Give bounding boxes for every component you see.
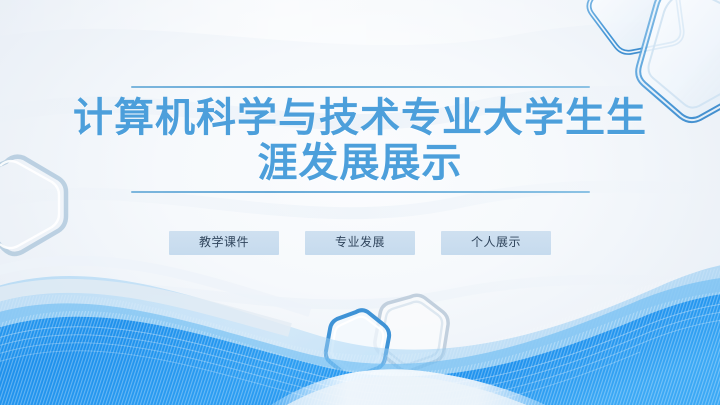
hexagon-top-right-group (0, 0, 720, 405)
hexagon-bottom-center-gray (375, 295, 448, 371)
tag-teaching-courseware[interactable]: 教学课件 (169, 231, 279, 255)
presentation-title-slide: 计算机科学与技术专业大学生生涯发展展示 教学课件 专业发展 个人展示 (0, 0, 720, 405)
title-rule-bottom (131, 191, 590, 193)
title-rule-top (131, 86, 590, 88)
wave-bottom-blue (0, 0, 720, 405)
background-light-sweeps (0, 0, 720, 405)
hexagon-top-right-small (589, 0, 682, 52)
tag-personal-showcase[interactable]: 个人展示 (441, 231, 551, 255)
tag-row: 教学课件 专业发展 个人展示 (0, 231, 720, 255)
hexagon-bottom-center-blue (326, 310, 389, 377)
hexagon-bottom-center-group (0, 0, 720, 405)
hexagon-left-edge (0, 0, 720, 405)
page-title: 计算机科学与技术专业大学生生涯发展展示 (0, 96, 720, 186)
tag-professional-development[interactable]: 专业发展 (305, 231, 415, 255)
title-block: 计算机科学与技术专业大学生生涯发展展示 (0, 86, 720, 193)
